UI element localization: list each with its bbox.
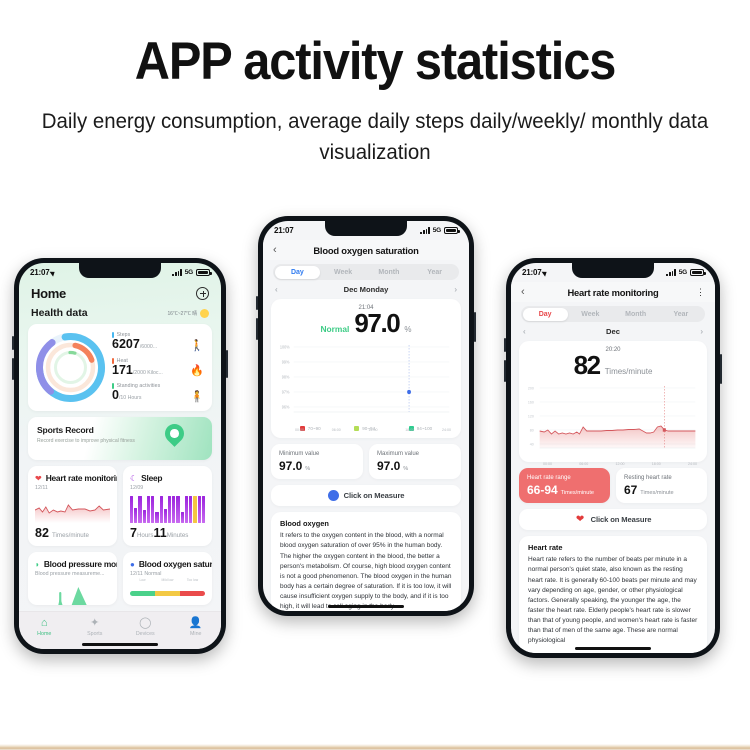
- tab-day[interactable]: Day: [523, 308, 568, 321]
- x-tick-1: 00:00: [543, 462, 552, 466]
- heart-icon: ❤: [35, 474, 42, 483]
- poster-stage: APP activity statistics Daily energy con…: [0, 0, 750, 750]
- volume-down-button[interactable]: [256, 318, 258, 340]
- person-icon: 👤: [171, 618, 222, 629]
- card-sleep-value: 7Hours11Minutes: [130, 526, 205, 540]
- stat-maximum-number: 97.0: [377, 459, 400, 473]
- nav-bar-right: ‹ Heart rate monitoring ⋮: [511, 282, 715, 302]
- svg-text:160: 160: [528, 401, 534, 405]
- svg-text:200: 200: [528, 387, 534, 391]
- blood-oxygen-info-card: Blood oxygen It refers to the oxygen con…: [271, 512, 461, 611]
- page-title: APP activity statistics: [30, 34, 720, 90]
- blood-oxygen-page: 21:07 5G ‹ Blood oxygen saturation Day W…: [263, 221, 469, 611]
- next-date-button[interactable]: ›: [700, 327, 703, 336]
- svg-text:98%: 98%: [282, 375, 290, 380]
- stat-range-value: 66-94 Times/minute: [527, 483, 602, 497]
- status-time: 21:07: [30, 268, 49, 277]
- current-date-label: Dec: [606, 327, 620, 336]
- blood-oxygen-tick-row: Low Mild low Too low: [130, 578, 205, 582]
- card-blood-pressure-title: Blood pressure mon: [44, 559, 117, 569]
- measure-button-mid[interactable]: Click on Measure: [271, 485, 461, 506]
- blood-oxygen-chart: 100%99% 98%97%96% 00:00 06:00 12:00 18:0…: [279, 340, 453, 422]
- stat-resting-heart-rate: Resting heart rate 67 Times/minute: [616, 468, 707, 503]
- sleep-hours-unit: Hours: [137, 532, 154, 539]
- x-tick-3: 12:00: [369, 428, 378, 432]
- metric-standing: Standing activities 0/10 Hours 🧍: [112, 383, 204, 403]
- card-heart-rate-date: 12/11: [35, 485, 110, 491]
- sleep-minutes: 11: [153, 526, 166, 540]
- plus-circle-icon[interactable]: [196, 287, 209, 300]
- health-metrics: Steps 6207/6000... 🚶 Heat: [107, 332, 204, 403]
- metric-heat-suffix: /2000 Kiloc...: [133, 370, 163, 376]
- period-segmented-control-right: Day Week Month Year: [521, 306, 705, 322]
- location-arrow-icon: [542, 269, 549, 276]
- home-title: Home: [31, 286, 66, 301]
- health-data-header: Health data 16℃~27℃ 晴: [19, 307, 221, 324]
- health-data-label: Health data: [31, 307, 88, 319]
- oxygen-tick-3: Too low: [180, 578, 205, 582]
- signal-icon: [666, 269, 675, 276]
- date-navigator-mid: ‹ Dec Monday ›: [263, 280, 469, 295]
- home-page: 21:07 5G Home Health data: [19, 263, 221, 649]
- stat-resting-unit: Times/minute: [640, 490, 673, 496]
- x-tick-5: 24:00: [442, 428, 451, 432]
- volume-up-button[interactable]: [12, 336, 14, 350]
- power-button[interactable]: [474, 312, 476, 342]
- heart-rate-sparkline: [35, 496, 110, 523]
- x-tick-2: 06:00: [579, 462, 588, 466]
- x-tick-3: 12:00: [616, 462, 625, 466]
- hero-section: APP activity statistics Daily energy con…: [0, 0, 750, 168]
- stat-resting-label: Resting heart rate: [624, 474, 699, 482]
- metric-steps-value: 6207/6000...: [112, 338, 190, 352]
- oxygen-tick-2: Mild low: [155, 578, 180, 582]
- x-tick-5: 24:00: [688, 462, 697, 466]
- blood-oxygen-value: 97.0: [354, 310, 399, 337]
- card-blood-pressure[interactable]: ◗ Blood pressure mon Blood pressure meas…: [28, 552, 117, 605]
- nav-bar-mid: ‹ Blood oxygen saturation: [263, 240, 469, 260]
- heart-rate-info-card: Heart rate Heart rate refers to the numb…: [519, 536, 707, 653]
- moon-icon: ☾: [130, 474, 137, 483]
- status-time: 21:07: [274, 226, 293, 235]
- network-label: 5G: [679, 269, 687, 276]
- home-icon: ⌂: [19, 618, 70, 629]
- network-label: 5G: [185, 269, 193, 276]
- info-body: Heart rate refers to the number of beats…: [528, 555, 698, 646]
- table-surface: [0, 744, 750, 750]
- next-date-button[interactable]: ›: [454, 285, 457, 294]
- phone-right: 21:07 5G ‹ Heart rate monitoring ⋮ Day: [506, 258, 720, 658]
- measure-button-label: Click on Measure: [344, 491, 405, 500]
- stat-maximum-unit: %: [403, 466, 408, 472]
- notch: [325, 221, 407, 236]
- tab-week[interactable]: Week: [320, 266, 366, 279]
- card-sleep-header: ☾ Sleep: [130, 473, 205, 483]
- drop-icon: ◗: [35, 560, 40, 569]
- tab-home[interactable]: ⌂ Home: [19, 618, 70, 637]
- notch: [79, 263, 161, 278]
- heart-rate-unit: Times/minute: [605, 367, 653, 376]
- x-tick-4: 18:00: [652, 462, 661, 466]
- blood-pressure-wave: [35, 583, 110, 605]
- metric-standing-value: 0/10 Hours: [112, 389, 190, 403]
- info-title: Blood oxygen: [280, 519, 452, 528]
- reading-value-row: 82 Times/minute: [527, 352, 699, 379]
- measure-button-label: Click on Measure: [591, 515, 652, 524]
- heart-rate-chart-card: 20:20 82 Times/minute: [519, 341, 707, 462]
- tab-year[interactable]: Year: [412, 266, 458, 279]
- tab-year[interactable]: Year: [658, 308, 703, 321]
- battery-icon: [196, 269, 210, 276]
- prev-date-button[interactable]: ‹: [523, 327, 526, 336]
- phone-mid-screen: 21:07 5G ‹ Blood oxygen saturation Day W…: [263, 221, 469, 611]
- mini-card-row-2: ◗ Blood pressure mon Blood pressure meas…: [28, 552, 212, 605]
- svg-text:100%: 100%: [280, 345, 290, 350]
- sports-record-title: Sports Record: [37, 425, 212, 435]
- power-button[interactable]: [226, 350, 228, 378]
- map-pin-icon: [165, 424, 184, 449]
- svg-text:99%: 99%: [282, 360, 290, 365]
- svg-text:120: 120: [528, 415, 534, 419]
- tab-day[interactable]: Day: [275, 266, 321, 279]
- card-heart-rate[interactable]: ❤ Heart rate monitoring 12/11: [28, 466, 117, 546]
- network-label: 5G: [433, 227, 441, 234]
- heart-icon: ❤: [575, 514, 586, 525]
- x-tick-4: 18:00: [405, 428, 414, 432]
- volume-up-button[interactable]: [256, 296, 258, 310]
- status-badge: Normal: [321, 324, 350, 334]
- date-navigator-right: ‹ Dec ›: [511, 322, 715, 337]
- phone-right-screen: 21:07 5G ‹ Heart rate monitoring ⋮ Day: [511, 263, 715, 653]
- prev-date-button[interactable]: ‹: [275, 285, 278, 294]
- metric-standing-suffix: /10 Hours: [119, 395, 142, 401]
- phone-mid: 21:07 5G ‹ Blood oxygen saturation Day W…: [258, 216, 474, 616]
- card-blood-pressure-header: ◗ Blood pressure mon: [35, 559, 110, 569]
- status-time: 21:07: [522, 268, 541, 277]
- stat-range-label: Heart rate range: [527, 474, 602, 482]
- svg-text:40: 40: [530, 443, 534, 447]
- stat-resting-number: 67: [624, 483, 637, 497]
- sleep-hours: 7: [130, 526, 137, 540]
- sleep-bars: [130, 496, 205, 523]
- card-heart-rate-title: Heart rate monitoring: [46, 473, 117, 483]
- card-sleep-date: 12/09: [130, 485, 205, 491]
- metric-heat: Heat 171/2000 Kiloc... 🔥: [112, 358, 204, 378]
- tab-mine[interactable]: 👤 Mine: [171, 618, 222, 637]
- info-body: It refers to the oxygen content in the b…: [280, 531, 452, 611]
- tab-week[interactable]: Week: [568, 308, 613, 321]
- stat-minimum-number: 97.0: [279, 459, 302, 473]
- home-indicator[interactable]: [82, 643, 158, 646]
- sports-icon: ✦: [70, 618, 121, 629]
- power-button[interactable]: [720, 354, 722, 384]
- oxygen-icon: [328, 490, 339, 501]
- oxygen-icon: ●: [130, 560, 135, 569]
- battery-icon: [690, 269, 704, 276]
- phone-left: 21:07 5G Home Health data: [14, 258, 226, 654]
- heart-rate-page: 21:07 5G ‹ Heart rate monitoring ⋮ Day: [511, 263, 715, 653]
- metric-heat-number: 171: [112, 363, 133, 377]
- svg-text:97%: 97%: [282, 390, 290, 395]
- card-heart-rate-header: ❤ Heart rate monitoring: [35, 473, 110, 483]
- svg-text:96%: 96%: [282, 405, 290, 410]
- volume-up-button[interactable]: [504, 338, 506, 352]
- stat-heart-rate-range: Heart rate range 66-94 Times/minute: [519, 468, 610, 503]
- tab-month[interactable]: Month: [366, 266, 412, 279]
- activity-rings: [34, 331, 107, 404]
- tab-devices[interactable]: ◯ Devices: [120, 618, 171, 637]
- weather-text: 16℃~27℃ 晴: [167, 310, 197, 317]
- health-data-card[interactable]: Steps 6207/6000... 🚶 Heat: [28, 324, 212, 411]
- blood-oxygen-x-labels: 00:00 06:00 12:00 18:00 24:00: [279, 427, 453, 432]
- volume-down-button[interactable]: [504, 360, 506, 382]
- location-arrow-icon: [50, 269, 57, 276]
- metric-heat-value: 171/2000 Kiloc...: [112, 364, 190, 378]
- home-indicator[interactable]: [328, 605, 404, 608]
- card-blood-oxygen-header: ● Blood oxygen satura: [130, 559, 205, 569]
- phone-left-screen: 21:07 5G Home Health data: [19, 263, 221, 649]
- x-tick-2: 06:00: [332, 428, 341, 432]
- tab-mine-label: Mine: [171, 631, 222, 637]
- period-segmented-control-mid: Day Week Month Year: [273, 264, 459, 280]
- tab-devices-label: Devices: [120, 631, 171, 637]
- card-blood-oxygen-subtitle: 12/11 Normal: [130, 571, 205, 577]
- sun-icon: [200, 309, 209, 318]
- chevron-left-icon[interactable]: ‹: [273, 244, 285, 256]
- notch: [572, 263, 654, 278]
- sleep-minutes-unit: Minutes: [167, 532, 189, 539]
- battery-icon: [444, 227, 458, 234]
- sports-record-card[interactable]: Sports Record Record exercise to improve…: [28, 417, 212, 460]
- stat-maximum-label: Maximum value: [377, 450, 453, 458]
- blood-oxygen-stats: Minimum value 97.0 % Maximum value 97.0 …: [271, 444, 461, 479]
- metric-standing-number: 0: [112, 388, 119, 402]
- mini-card-row-1: ❤ Heart rate monitoring 12/11: [28, 466, 212, 546]
- heart-rate-stats: Heart rate range 66-94 Times/minute Rest…: [519, 468, 707, 503]
- stat-minimum-unit: %: [305, 466, 310, 472]
- page-subtitle: Daily energy consumption, average daily …: [19, 106, 732, 168]
- stat-minimum-value: 97.0 %: [279, 459, 355, 473]
- tab-month[interactable]: Month: [613, 308, 658, 321]
- info-title: Heart rate: [528, 543, 698, 552]
- metric-steps-number: 6207: [112, 337, 140, 351]
- blood-oxygen-bar: [130, 591, 205, 596]
- chevron-left-icon[interactable]: ‹: [521, 286, 533, 298]
- card-heart-rate-value: 82 Times/minute: [35, 526, 110, 540]
- standing-icon: 🧍: [190, 392, 204, 403]
- volume-down-button[interactable]: [12, 358, 14, 380]
- stat-minimum-label: Minimum value: [279, 450, 355, 458]
- more-vertical-icon[interactable]: ⋮: [693, 287, 705, 298]
- signal-icon: [420, 227, 429, 234]
- blood-oxygen-unit: %: [404, 325, 411, 334]
- tab-sports[interactable]: ✦ Sports: [70, 618, 121, 637]
- tab-sports-label: Sports: [70, 631, 121, 637]
- walking-icon: 🚶: [190, 341, 204, 352]
- heart-rate-unit: Times/minute: [52, 532, 89, 539]
- card-blood-oxygen[interactable]: ● Blood oxygen satura 12/11 Normal Low M…: [123, 552, 212, 605]
- reading-value-row: Normal 97.0 %: [279, 310, 453, 337]
- tab-home-label: Home: [19, 631, 70, 637]
- metric-steps: Steps 6207/6000... 🚶: [112, 332, 204, 352]
- page-title-blood-oxygen: Blood oxygen saturation: [285, 245, 447, 256]
- card-blood-pressure-subtitle: Blood pressure measureme...: [35, 571, 110, 577]
- page-title-heart-rate: Heart rate monitoring: [533, 287, 693, 298]
- current-date-label: Dec Monday: [344, 285, 389, 294]
- stat-minimum: Minimum value 97.0 %: [271, 444, 363, 479]
- heart-rate-x-labels: 00:00 06:00 12:00 18:00 24:00: [527, 461, 699, 466]
- card-sleep[interactable]: ☾ Sleep 12/09 7Hours11Minutes: [123, 466, 212, 546]
- signal-icon: [172, 269, 181, 276]
- stat-maximum: Maximum value 97.0 %: [369, 444, 461, 479]
- heart-rate-chart: 200160 1208040: [527, 382, 699, 456]
- sports-record-subtitle: Record exercise to improve physical fitn…: [37, 438, 212, 444]
- heart-rate-number: 82: [35, 526, 49, 540]
- home-indicator[interactable]: [575, 647, 651, 650]
- measure-button-right[interactable]: ❤ Click on Measure: [519, 509, 707, 530]
- oxygen-tick-1: Low: [130, 578, 155, 582]
- stat-range-unit: Times/minute: [561, 490, 594, 496]
- stat-maximum-value: 97.0 %: [377, 459, 453, 473]
- home-header: Home: [19, 282, 221, 307]
- device-icon: ◯: [120, 618, 171, 629]
- x-tick-1: 00:00: [295, 428, 304, 432]
- blood-oxygen-chart-card: 21:04 Normal 97.0 %: [271, 299, 461, 438]
- heart-rate-value: 82: [574, 352, 600, 379]
- weather-widget: 16℃~27℃ 晴: [167, 309, 209, 318]
- card-blood-oxygen-title: Blood oxygen satura: [139, 559, 212, 569]
- stat-resting-value: 67 Times/minute: [624, 483, 699, 497]
- svg-text:80: 80: [530, 429, 534, 433]
- card-sleep-title: Sleep: [141, 473, 162, 483]
- metric-steps-suffix: /6000...: [140, 344, 157, 350]
- flame-icon: 🔥: [190, 366, 204, 377]
- stat-range-number: 66-94: [527, 483, 558, 497]
